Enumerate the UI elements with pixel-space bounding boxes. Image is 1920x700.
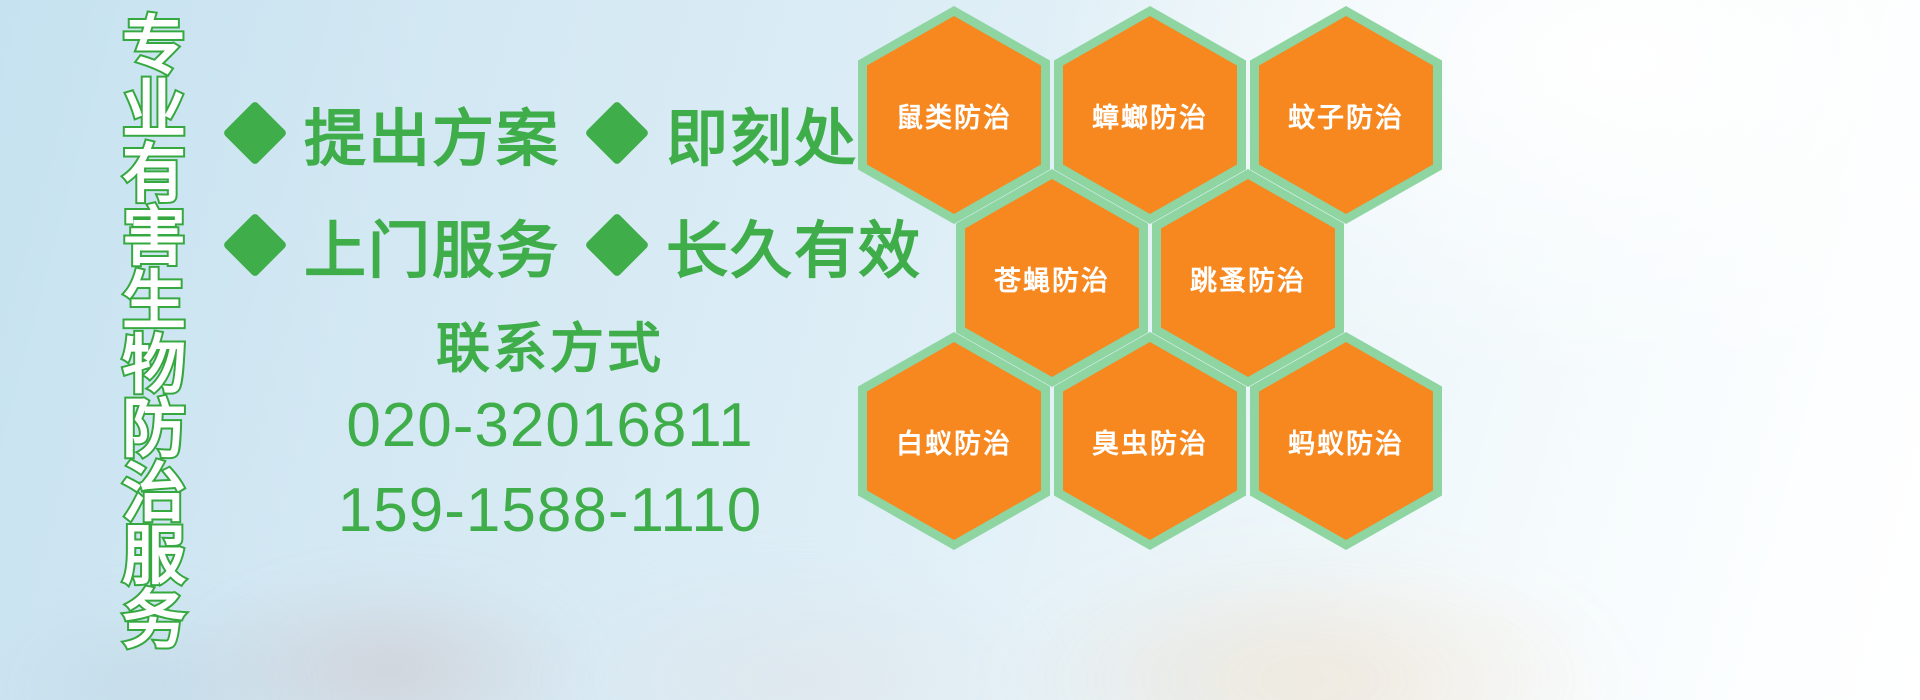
service-hex-label: 苍蝇防治 [994,259,1110,298]
slogan-char: 生 [122,271,186,332]
slogan-char: 物 [122,335,186,396]
slogan-char: 害 [122,207,186,268]
slogan-char: 治 [122,463,186,524]
service-hex-label: 臭虫防治 [1092,422,1208,461]
slogan-char: 专 [122,16,186,77]
contact-block: 联系方式 020-32016811 159-1588-1110 [300,318,800,551]
contact-title: 联系方式 [300,318,800,380]
feature-label-onsite-service: 上门服务 [304,200,560,290]
vertical-slogan: 专 业 有 害 生 物 防 治 服 务 [104,16,204,700]
service-hex-label: 蚂蚁防治 [1288,422,1404,461]
slogan-char: 服 [122,526,186,587]
diamond-bullet-icon [584,212,649,277]
slogan-char: 有 [122,144,186,205]
banner-canvas: 专 业 有 害 生 物 防 治 服 务 提出方案 即刻处理 上门服务 长久有效 … [0,0,1920,700]
feature-row-2: 上门服务 长久有效 [232,200,922,290]
diamond-bullet-icon [222,212,287,277]
feature-row-1: 提出方案 即刻处理 [232,88,922,178]
contact-phone-landline[interactable]: 020-32016811 [300,386,800,465]
slogan-char: 防 [122,399,186,460]
service-hex-label: 鼠类防治 [896,96,1012,135]
contact-phone-mobile[interactable]: 159-1588-1110 [300,471,800,550]
slogan-char: 务 [122,590,186,651]
service-hex-label: 蟑螂防治 [1092,96,1208,135]
service-hex-label: 白蚁防治 [896,422,1012,461]
feature-label-propose-plan: 提出方案 [304,88,560,178]
slogan-char: 业 [122,80,186,141]
service-hex-label: 跳蚤防治 [1190,259,1306,298]
diamond-bullet-icon [584,100,649,165]
service-hex-label: 蚊子防治 [1288,96,1404,135]
service-hexagon-grid: 鼠类防治 蟑螂防治 蚊子防治 苍蝇防治 跳蚤防治 白蚁防治 臭虫防治 蚂蚁 [858,0,1478,616]
diamond-bullet-icon [222,100,287,165]
